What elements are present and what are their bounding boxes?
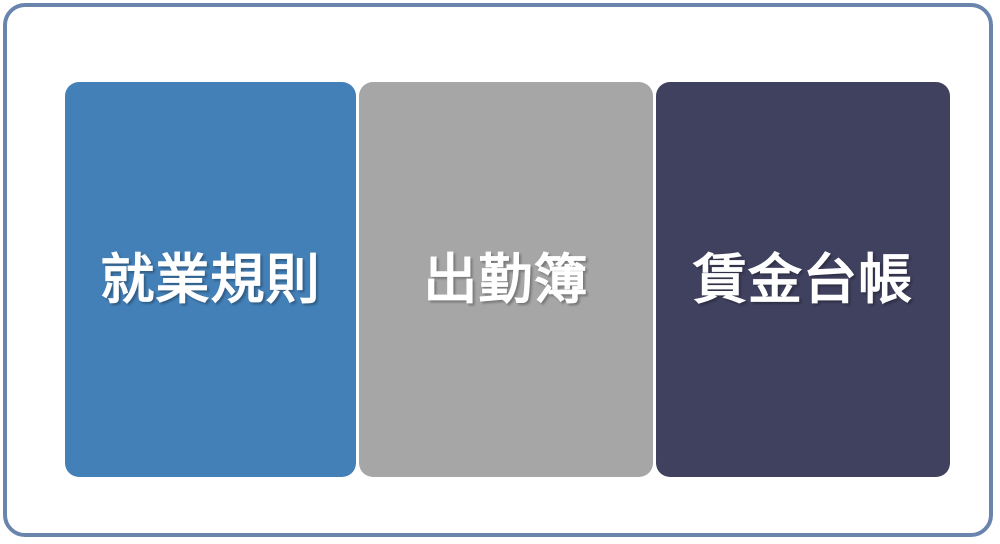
card-label-shukkinbo: 出勤簿: [423, 250, 588, 309]
card-chingin-daicho[interactable]: 賃金台帳: [656, 82, 950, 477]
card-shukkinbo[interactable]: 出勤簿: [359, 82, 653, 477]
outer-panel: 就業規則 出勤簿 賃金台帳: [3, 3, 993, 537]
card-label-chingin-daicho: 賃金台帳: [693, 250, 913, 309]
card-shugyo-kisoku[interactable]: 就業規則: [65, 82, 356, 477]
card-label-shugyo-kisoku: 就業規則: [100, 250, 320, 309]
card-row: 就業規則 出勤簿 賃金台帳: [65, 82, 950, 477]
